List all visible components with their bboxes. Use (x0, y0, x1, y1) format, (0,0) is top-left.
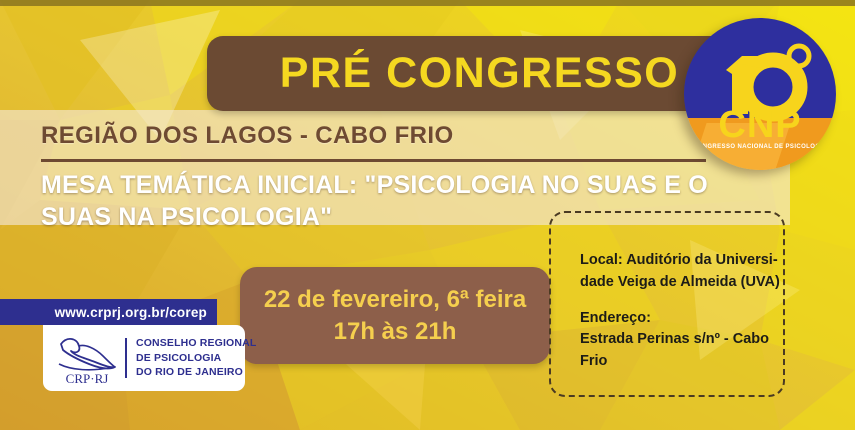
crp-rj-logo-card: CRP·RJ CONSELHO REGIONAL DE PSICOLOGIA D… (43, 325, 245, 391)
website-url[interactable]: www.crprj.org.br/corep (55, 305, 207, 320)
date-line-2: 17h às 21h (334, 316, 457, 348)
crp-rj-bird-icon: CRP·RJ (51, 330, 123, 386)
venue-local-line-2: dade Veiga de Almeida (UVA) (580, 272, 795, 294)
svg-text:CNP: CNP (718, 104, 801, 146)
info-spacer (580, 294, 795, 308)
pre-congresso-title: PRÉ CONGRESSO (280, 52, 679, 95)
date-line-1: 22 de fevereiro, 6ª feira (264, 284, 526, 316)
date-badge: 22 de fevereiro, 6ª feira 17h às 21h (240, 267, 550, 364)
crp-name-line-2: DE PSICOLOGIA (136, 351, 256, 366)
region-divider (41, 159, 706, 162)
event-poster: PRÉ CONGRESSO REGIÃO DOS LAGOS - CABO FR… (0, 0, 855, 430)
cnp-logo: CNP CONGRESSO NACIONAL DE PSICOLOGIA (684, 18, 836, 170)
website-banner[interactable]: www.crprj.org.br/corep (0, 299, 217, 325)
cnp-logo-mark: CNP CONGRESSO NACIONAL DE PSICOLOGIA (684, 18, 836, 170)
region-subtitle: REGIÃO DOS LAGOS - CABO FRIO (41, 122, 454, 150)
venue-address-line-1: Estrada Perinas s/nº - Cabo (580, 329, 795, 351)
top-accent-strip (0, 0, 855, 6)
venue-info-text: Local: Auditório da Universi- dade Veiga… (580, 250, 795, 373)
crp-rj-name: CONSELHO REGIONAL DE PSICOLOGIA DO RIO D… (136, 336, 256, 381)
venue-address-label: Endereço: (580, 308, 795, 330)
svg-text:CONGRESSO NACIONAL DE PSICOLOG: CONGRESSO NACIONAL DE PSICOLOGIA (693, 144, 828, 150)
crp-rj-emblem: CRP·RJ (51, 330, 123, 386)
crp-divider (125, 338, 127, 378)
pre-congresso-banner: PRÉ CONGRESSO (207, 36, 752, 111)
crp-name-line-1: CONSELHO REGIONAL (136, 336, 256, 351)
venue-address-line-2: Frio (580, 351, 795, 373)
venue-local-line-1: Local: Auditório da Universi- (580, 250, 795, 272)
crp-name-line-3: DO RIO DE JANEIRO (136, 365, 256, 380)
crp-rj-emblem-text: CRP·RJ (66, 371, 109, 386)
